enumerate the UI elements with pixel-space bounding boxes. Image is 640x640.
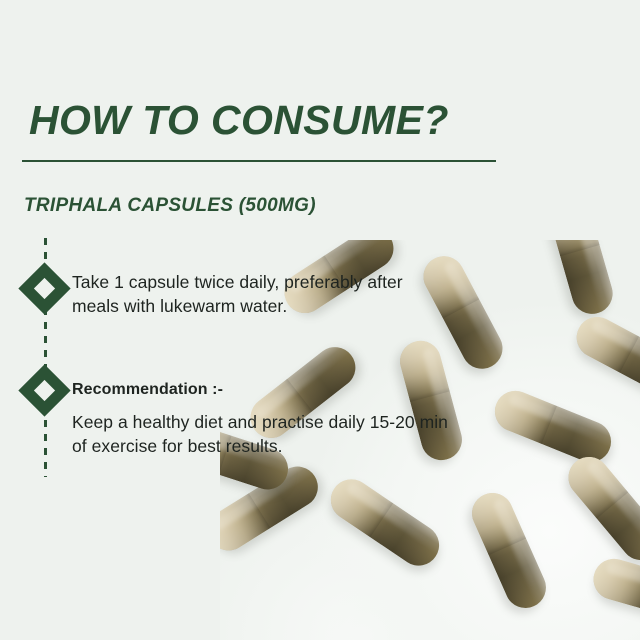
capsule xyxy=(323,471,447,573)
diamond-bullet-icon xyxy=(18,262,70,314)
capsule xyxy=(465,486,552,614)
poster-canvas: HOW TO CONSUME? TRIPHALA CAPSULES (500MG… xyxy=(0,0,640,640)
capsule xyxy=(589,554,640,627)
page-title: HOW TO CONSUME? xyxy=(29,96,449,144)
capsule xyxy=(570,310,640,403)
diamond-bullet-icon xyxy=(18,364,70,416)
product-subtitle: TRIPHALA CAPSULES (500MG) xyxy=(24,194,316,218)
diamond-bullet-hole xyxy=(34,380,55,401)
title-divider xyxy=(22,160,496,162)
instruction-item-text: Keep a healthy diet and practise daily 1… xyxy=(72,410,452,458)
capsule xyxy=(544,240,617,319)
capsule xyxy=(489,385,617,469)
instruction-item-text: Take 1 capsule twice daily, preferably a… xyxy=(72,270,452,318)
diamond-bullet-hole xyxy=(34,278,55,299)
recommendation-heading: Recommendation :- xyxy=(72,380,223,400)
capsule xyxy=(560,449,640,569)
capsule xyxy=(220,459,326,558)
